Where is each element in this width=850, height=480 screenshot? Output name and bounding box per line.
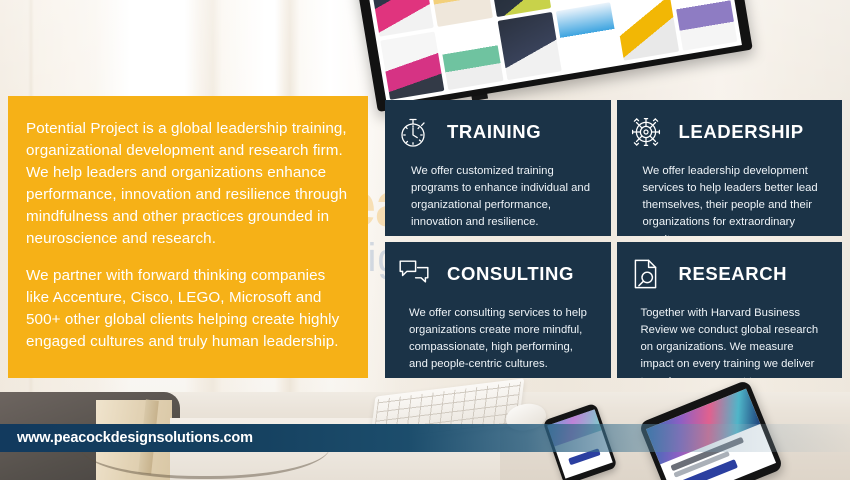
service-card-research[interactable]: RESEARCH Together with Harvard Business … <box>617 242 843 378</box>
stopwatch-icon <box>397 115 431 149</box>
ship-wheel-icon <box>629 115 663 149</box>
service-card-training[interactable]: TRAINING We offer customized training pr… <box>385 100 611 236</box>
card-header: TRAINING <box>397 112 597 152</box>
card-title: CONSULTING <box>447 263 574 285</box>
website-thumbnail <box>556 2 620 70</box>
document-search-icon <box>629 257 663 291</box>
intro-panel: Potential Project is a global leadership… <box>8 96 368 378</box>
website-thumbnail <box>370 0 434 37</box>
website-url[interactable]: www.peacockdesignsolutions.com <box>0 430 253 446</box>
card-description: Together with Harvard Business Review we… <box>629 305 829 378</box>
website-thumbnail <box>439 22 503 90</box>
card-title: LEADERSHIP <box>679 121 804 143</box>
card-header: RESEARCH <box>629 254 829 294</box>
footer-url-bar: www.peacockdesignsolutions.com <box>0 424 850 452</box>
card-title: TRAINING <box>447 121 541 143</box>
intro-paragraph-1: Potential Project is a global leadership… <box>26 118 348 250</box>
service-card-leadership[interactable]: LEADERSHIP We offer leadership developme… <box>617 100 843 236</box>
card-description: We offer customized training programs to… <box>397 163 597 232</box>
service-card-consulting[interactable]: CONSULTING We offer consulting services … <box>385 242 611 378</box>
intro-paragraph-2: We partner with forward thinking compani… <box>26 265 348 353</box>
service-card-grid: TRAINING We offer customized training pr… <box>385 100 842 378</box>
card-header: LEADERSHIP <box>629 112 829 152</box>
website-thumbnail <box>497 12 561 80</box>
card-header: CONSULTING <box>397 254 597 294</box>
website-thumbnail <box>673 0 737 51</box>
card-description: We offer consulting services to help org… <box>397 305 597 374</box>
website-thumbnail <box>380 32 444 100</box>
card-title: RESEARCH <box>679 263 788 285</box>
speech-bubbles-icon <box>397 257 431 291</box>
card-description: We offer leadership development services… <box>629 163 829 236</box>
website-thumbnail <box>614 0 678 61</box>
slide-canvas: Peacock design solutions Potential Proje… <box>0 0 850 480</box>
